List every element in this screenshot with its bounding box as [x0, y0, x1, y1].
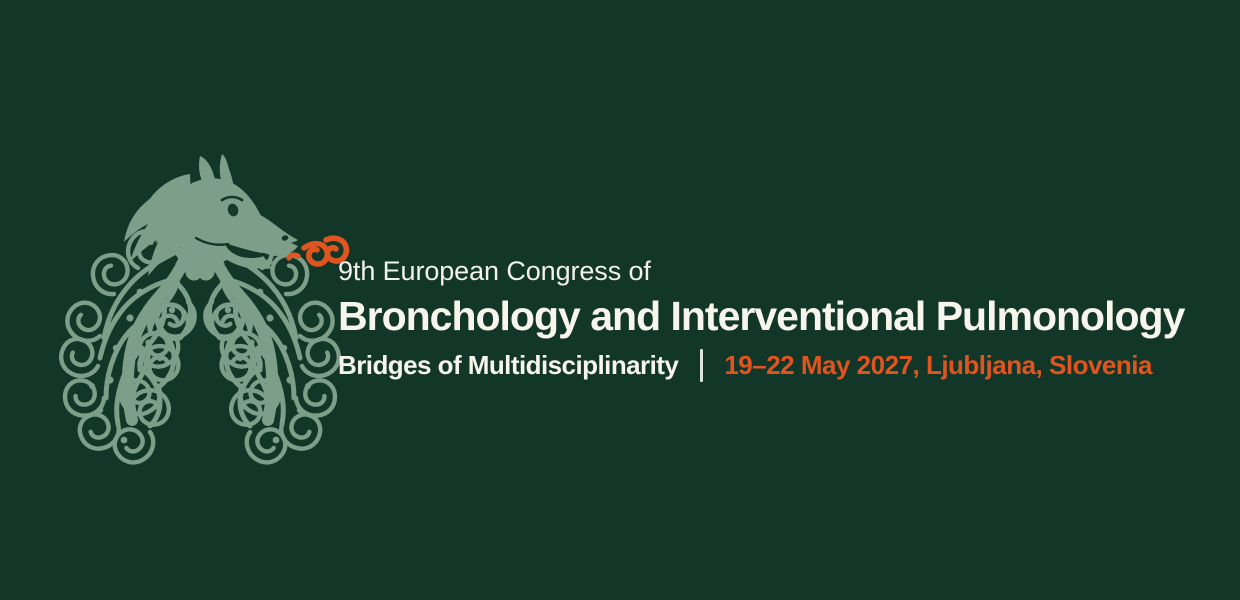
dragon-lungs-logo: [72, 152, 328, 448]
congress-eyebrow: 9th European Congress of: [338, 254, 1198, 288]
congress-tagline: Bridges of Multidisciplinarity: [338, 346, 678, 384]
congress-banner: 9th European Congress of Bronchology and…: [0, 0, 1240, 600]
strapline-divider: [700, 349, 703, 382]
congress-lockup: 9th European Congress of Bronchology and…: [338, 254, 1198, 384]
congress-date-location: 19–22 May 2027, Ljubljana, Slovenia: [724, 346, 1152, 384]
congress-title: Bronchology and Interventional Pulmonolo…: [338, 290, 1198, 342]
congress-strapline-row: Bridges of Multidisciplinarity 19–22 May…: [338, 346, 1198, 384]
